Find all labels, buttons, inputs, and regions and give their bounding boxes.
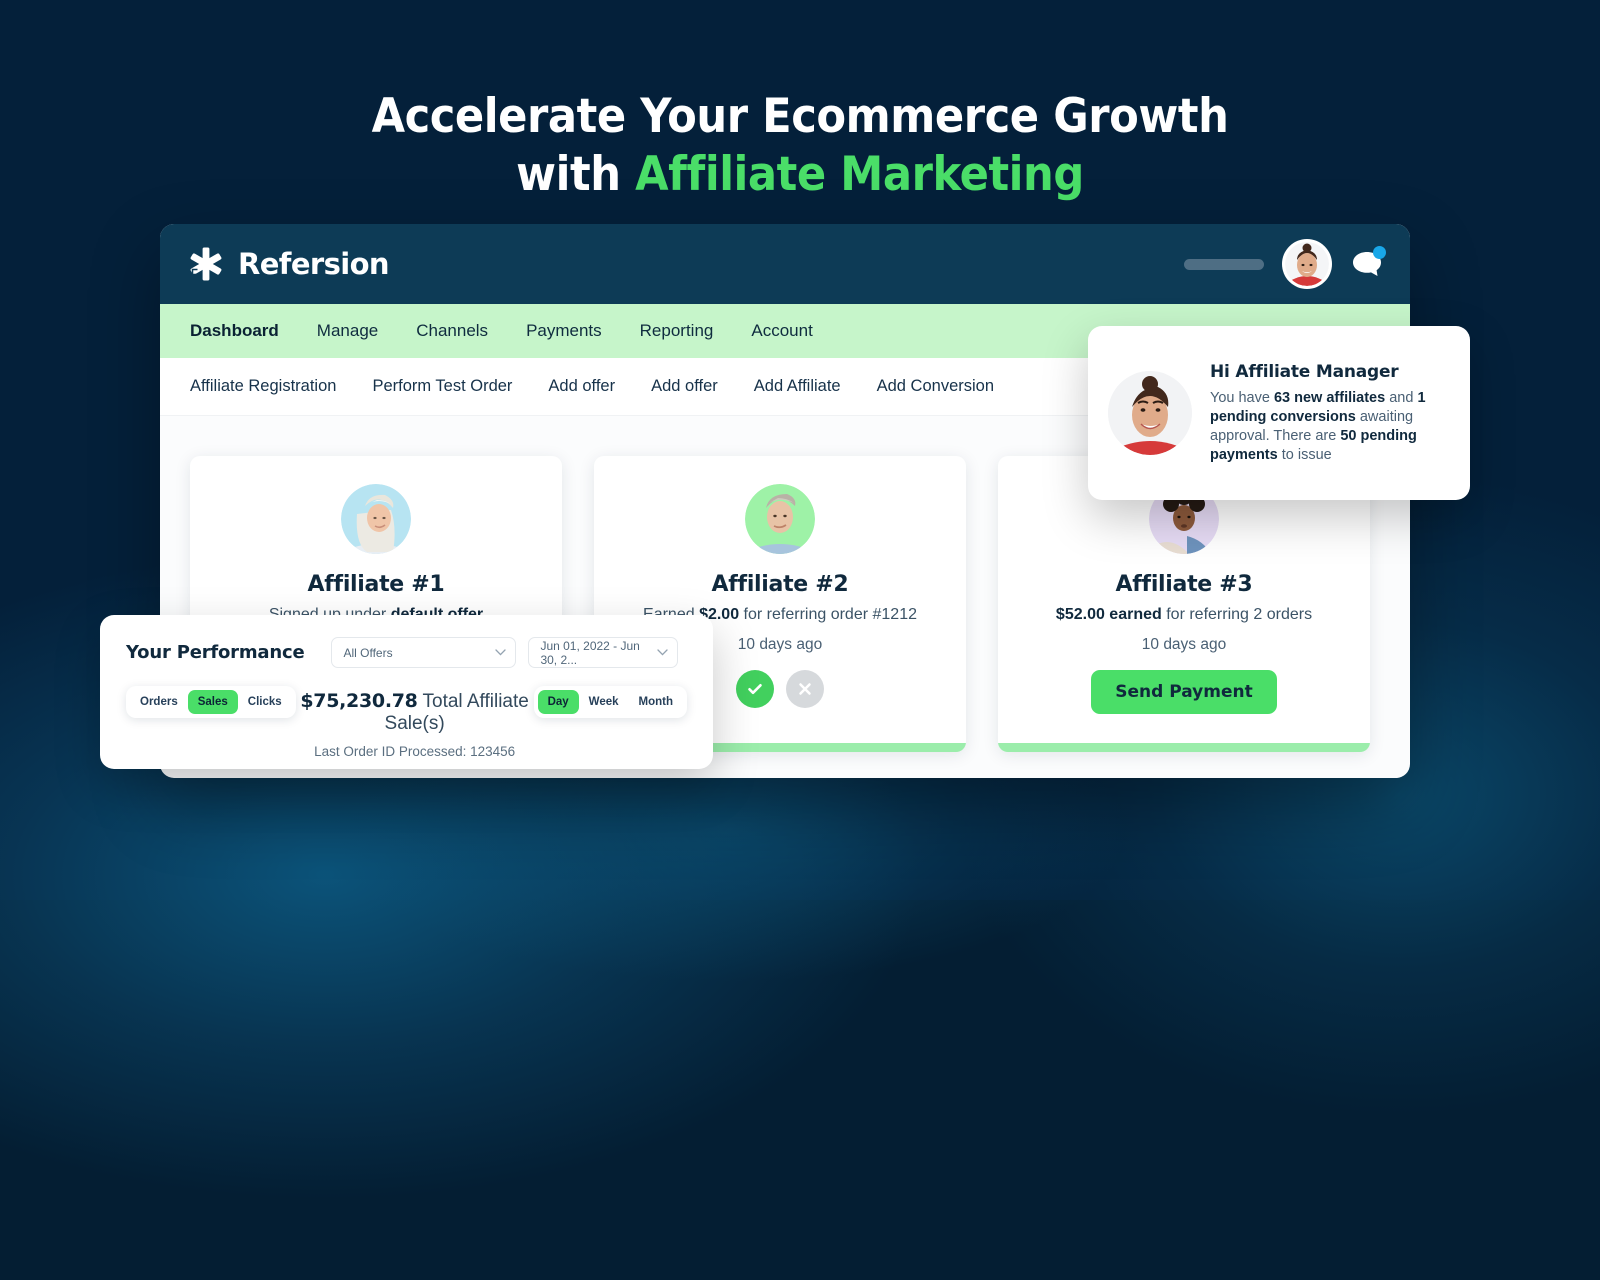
manager-avatar: [1108, 371, 1192, 455]
quick-action-affiliate-registration[interactable]: Affiliate Registration: [190, 377, 336, 396]
reject-button[interactable]: [786, 670, 824, 708]
metric-toggle-group: Orders Sales Clicks: [126, 686, 296, 718]
notification-body: You have 63 new affiliates and 1 pending…: [1210, 389, 1448, 465]
chevron-down-icon: [657, 649, 668, 656]
notification-card: Hi Affiliate Manager You have 63 new aff…: [1088, 326, 1470, 500]
nav-item-account[interactable]: Account: [751, 321, 812, 341]
date-range-value: Jun 01, 2022 - Jun 30, 2...: [540, 639, 657, 667]
offers-select-value: All Offers: [343, 646, 392, 660]
quick-action-perform-test-order[interactable]: Perform Test Order: [372, 377, 512, 396]
affiliate-3-timestamp: 10 days ago: [1142, 636, 1226, 654]
avatar[interactable]: [1282, 239, 1332, 289]
brand[interactable]: Refersion: [188, 246, 389, 282]
affiliate-3-sub-bold: $52.00 earned: [1056, 606, 1162, 623]
chevron-down-icon: [495, 649, 506, 656]
affiliate-2-avatar-image: [745, 484, 815, 554]
performance-panel-header: Your Performance All Offers Jun 01, 2022…: [126, 637, 687, 668]
hero-headline-line2-accent: Affiliate Marketing: [635, 147, 1084, 202]
notif-new-affiliates-count: 63 new affiliates: [1274, 390, 1385, 406]
nav-item-manage[interactable]: Manage: [317, 321, 378, 341]
performance-panel: Your Performance All Offers Jun 01, 2022…: [100, 615, 713, 769]
notif-t4: to issue: [1278, 447, 1332, 463]
affiliate-3-name: Affiliate #3: [1116, 572, 1253, 597]
hero-headline-line1: Accelerate Your Ecommerce Growth: [64, 88, 1536, 146]
affiliate-3-sub-post: for referring 2 orders: [1162, 606, 1312, 623]
app-header: Refersion: [160, 224, 1410, 304]
metric-tab-clicks[interactable]: Clicks: [238, 690, 292, 714]
asterisk-logo-icon: [188, 246, 224, 282]
affiliate-3-subtitle: $52.00 earned for referring 2 orders: [1056, 606, 1312, 624]
notification-dot: [1373, 246, 1386, 259]
range-tab-week[interactable]: Week: [579, 690, 629, 714]
metric-tab-sales[interactable]: Sales: [188, 690, 238, 714]
nav-item-reporting[interactable]: Reporting: [640, 321, 714, 341]
performance-panel-body: Orders Sales Clicks $75,230.78 Total Aff…: [126, 686, 687, 759]
hero-headline-line2-prefix: with: [516, 147, 635, 202]
brand-name: Refersion: [238, 247, 389, 281]
send-payment-button[interactable]: Send Payment: [1091, 670, 1276, 714]
performance-amount: $75,230.78: [300, 690, 417, 712]
close-icon: [797, 681, 813, 697]
notif-t2: and: [1385, 390, 1417, 406]
range-tab-day[interactable]: Day: [538, 690, 579, 714]
performance-title: Your Performance: [126, 642, 304, 663]
notif-t1: You have: [1210, 390, 1274, 406]
notification-title: Hi Affiliate Manager: [1210, 362, 1448, 382]
nav-item-payments[interactable]: Payments: [526, 321, 602, 341]
hero-headline-line2: with Affiliate Marketing: [64, 146, 1536, 204]
affiliate-2-actions: [736, 670, 824, 708]
affiliate-3-accent-strip: [998, 743, 1370, 752]
range-toggle-group: Day Week Month: [534, 686, 687, 718]
hero-headline: Accelerate Your Ecommerce Growth with Af…: [0, 88, 1600, 204]
affiliate-1-name: Affiliate #1: [308, 572, 445, 597]
nav-item-dashboard[interactable]: Dashboard: [190, 321, 279, 341]
last-order-processed: Last Order ID Processed: 123456: [296, 744, 534, 759]
user-avatar-image: [1285, 242, 1329, 286]
affiliate-2-avatar: [745, 484, 815, 554]
search-input[interactable]: [1184, 259, 1264, 270]
offers-select[interactable]: All Offers: [331, 637, 516, 668]
approve-button[interactable]: [736, 670, 774, 708]
performance-amount-line: $75,230.78 Total Affiliate Sale(s): [296, 690, 534, 735]
range-tab-month[interactable]: Month: [629, 690, 683, 714]
header-actions: [1184, 239, 1384, 289]
affiliate-2-name: Affiliate #2: [712, 572, 849, 597]
affiliate-2-timestamp: 10 days ago: [738, 636, 822, 654]
metric-tab-orders[interactable]: Orders: [130, 690, 188, 714]
performance-summary: $75,230.78 Total Affiliate Sale(s) Last …: [296, 686, 534, 759]
notification-text-block: Hi Affiliate Manager You have 63 new aff…: [1210, 362, 1448, 465]
check-icon: [746, 680, 764, 698]
quick-action-add-offer-1[interactable]: Add offer: [548, 377, 615, 396]
affiliate-card-3: Affiliate #3 $52.00 earned for referring…: [998, 456, 1370, 752]
chat-bubble-icon[interactable]: [1350, 247, 1384, 281]
date-range-select[interactable]: Jun 01, 2022 - Jun 30, 2...: [528, 637, 678, 668]
affiliate-1-avatar: [341, 484, 411, 554]
affiliate-1-avatar-image: [341, 484, 411, 554]
quick-action-add-affiliate[interactable]: Add Affiliate: [754, 377, 841, 396]
affiliate-2-sub-post: for referring order #1212: [739, 606, 917, 623]
manager-avatar-image: [1108, 371, 1192, 455]
quick-action-add-offer-2[interactable]: Add offer: [651, 377, 718, 396]
quick-action-add-conversion[interactable]: Add Conversion: [877, 377, 994, 396]
nav-item-channels[interactable]: Channels: [416, 321, 488, 341]
